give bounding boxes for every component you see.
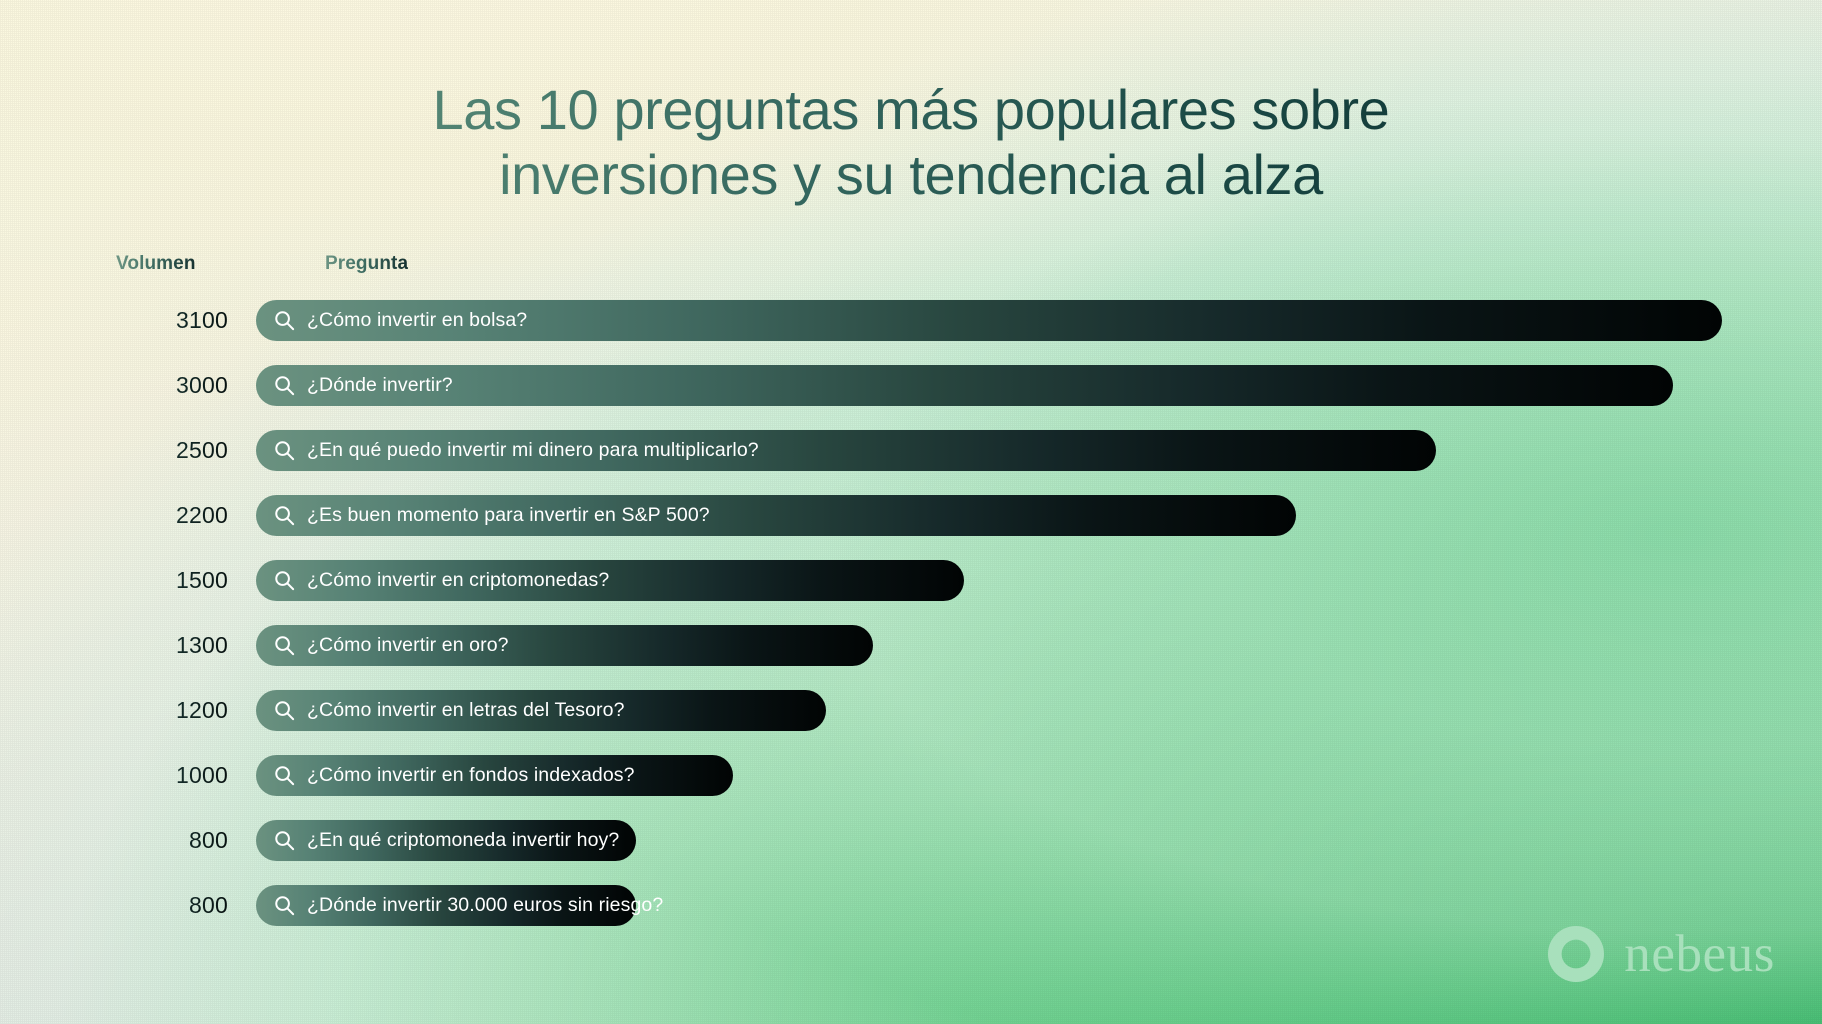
page-title: Las 10 preguntas más populares sobre inv…: [0, 78, 1822, 208]
nebeus-logo: nebeus: [1548, 926, 1775, 982]
chart-row[interactable]: 3100¿Cómo invertir en bolsa?: [0, 297, 1822, 362]
volume-value: 800: [0, 882, 228, 929]
column-header-volumen: Volumen: [116, 253, 196, 275]
volume-value: 1300: [0, 622, 228, 669]
column-header-pregunta: Pregunta: [325, 253, 408, 275]
volume-value: 3000: [0, 362, 228, 409]
chart-row[interactable]: 3000¿Dónde invertir?: [0, 362, 1822, 427]
infographic-canvas: Las 10 preguntas más populares sobre inv…: [0, 0, 1822, 1024]
volume-bar[interactable]: [256, 560, 964, 601]
volume-bar[interactable]: [256, 365, 1673, 406]
nebeus-wordmark: nebeus: [1624, 928, 1775, 981]
volume-value: 3100: [0, 297, 228, 344]
volume-bar[interactable]: [256, 885, 636, 926]
volume-value: 1200: [0, 687, 228, 734]
volume-value: 1500: [0, 557, 228, 604]
nebeus-ring-icon: [1548, 926, 1604, 982]
volume-value: 1000: [0, 752, 228, 799]
chart-row[interactable]: 1500¿Cómo invertir en criptomonedas?: [0, 557, 1822, 622]
chart-row[interactable]: 2200¿Es buen momento para invertir en S&…: [0, 492, 1822, 557]
volume-bar[interactable]: [256, 820, 636, 861]
volume-bar[interactable]: [256, 755, 733, 796]
volume-value: 2200: [0, 492, 228, 539]
volume-bar[interactable]: [256, 625, 873, 666]
volume-bar[interactable]: [256, 300, 1722, 341]
bar-chart-rows: 3100¿Cómo invertir en bolsa?3000¿Dónde i…: [0, 297, 1822, 947]
chart-row[interactable]: 2500¿En qué puedo invertir mi dinero par…: [0, 427, 1822, 492]
volume-bar[interactable]: [256, 430, 1436, 471]
chart-row[interactable]: 1200¿Cómo invertir en letras del Tesoro?: [0, 687, 1822, 752]
chart-row[interactable]: 1300¿Cómo invertir en oro?: [0, 622, 1822, 687]
volume-value: 800: [0, 817, 228, 864]
volume-bar[interactable]: [256, 495, 1296, 536]
volume-value: 2500: [0, 427, 228, 474]
volume-bar[interactable]: [256, 690, 826, 731]
chart-row[interactable]: 800¿En qué criptomoneda invertir hoy?: [0, 817, 1822, 882]
chart-row[interactable]: 1000¿Cómo invertir en fondos indexados?: [0, 752, 1822, 817]
